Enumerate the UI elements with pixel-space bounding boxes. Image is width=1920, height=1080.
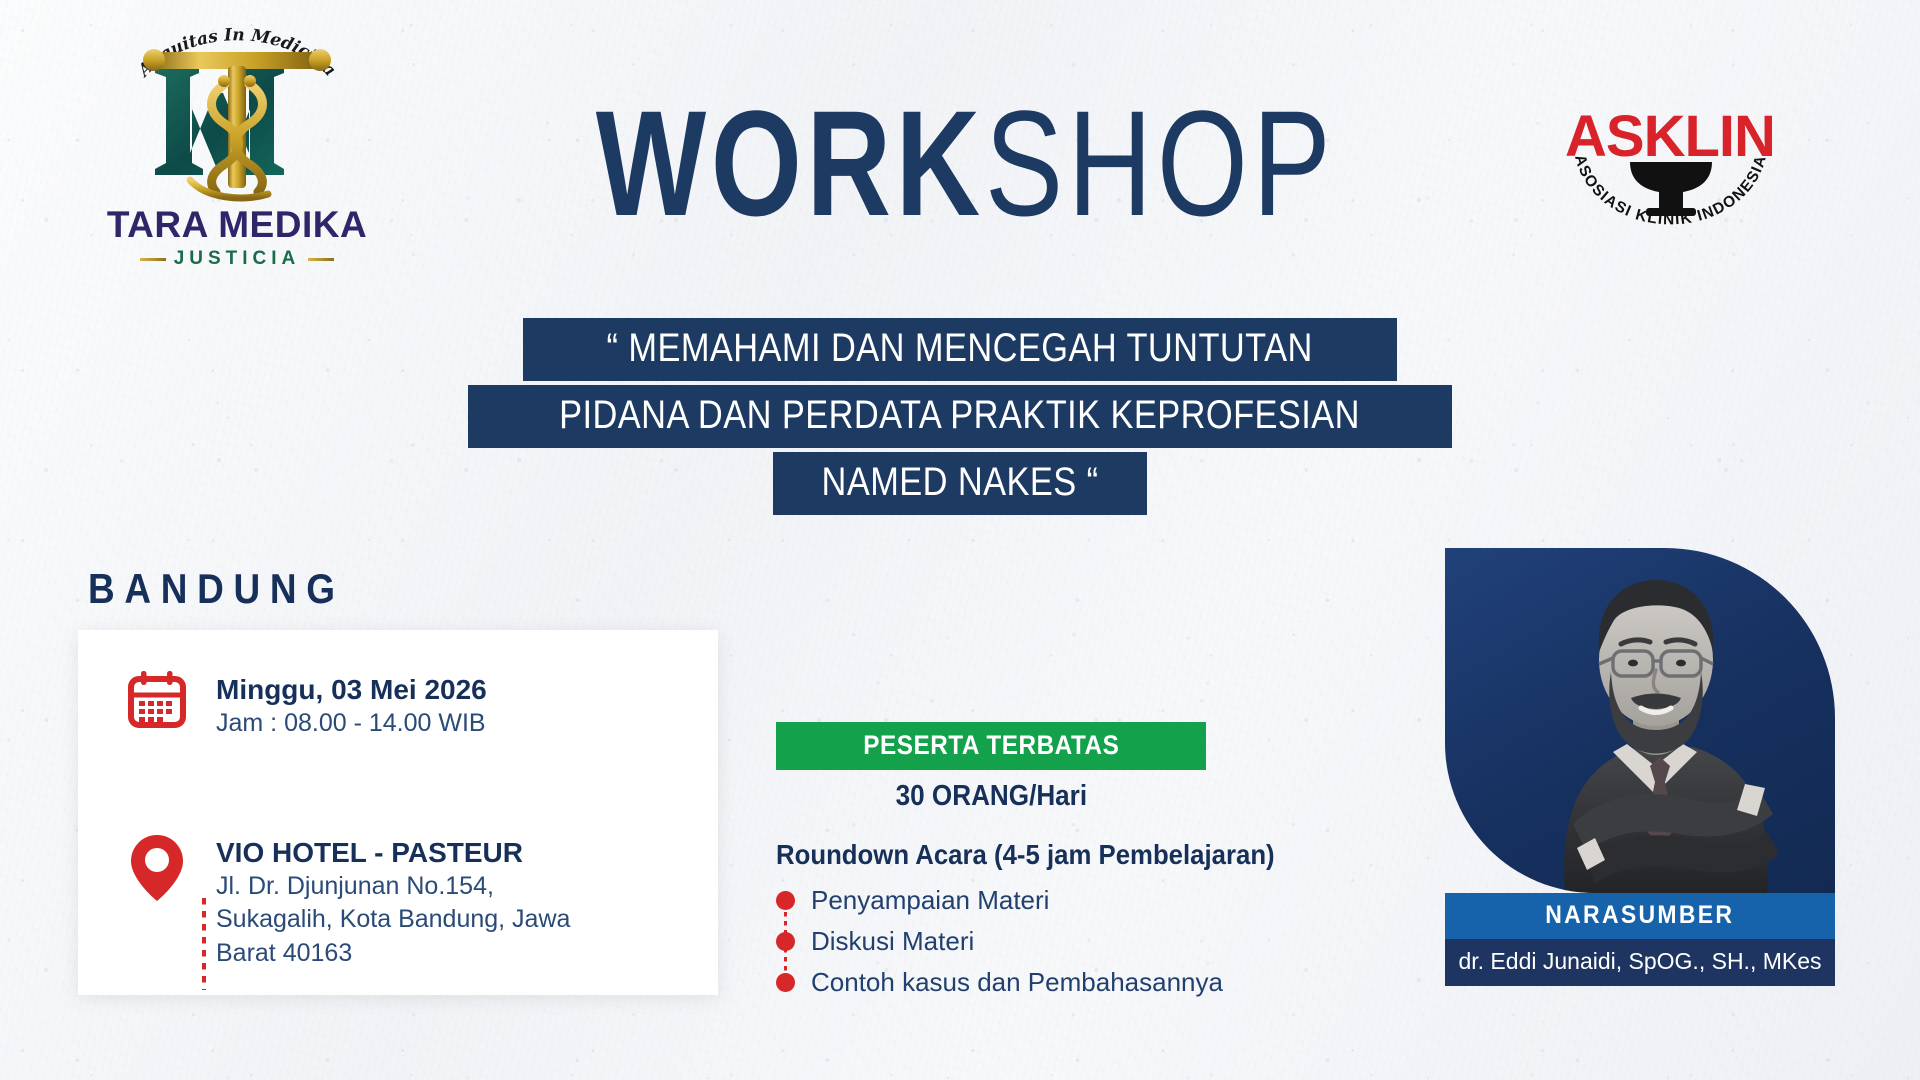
bullet-dot-icon	[776, 973, 795, 992]
location-pin-icon	[128, 831, 186, 905]
venue-address-line-2: Sukagalih, Kota Bandung, Jawa	[216, 903, 570, 937]
quota-text: 30 ORANG/Hari	[776, 780, 1206, 813]
speaker-role-label: NARASUMBER	[1445, 893, 1835, 939]
subtitle-banner-group: “ MEMAHAMI DAN MENCEGAH TUNTUTAN PIDANA …	[0, 318, 1920, 515]
event-time: Jam : 08.00 - 14.00 WIB	[216, 707, 487, 741]
list-item: Diskusi Materi	[776, 921, 1206, 962]
calendar-icon	[126, 668, 188, 730]
bullet-dot-icon	[776, 932, 795, 951]
rundown-item-label: Contoh kasus dan Pembahasannya	[811, 967, 1223, 998]
date-icon-col	[124, 668, 190, 741]
city-heading: BANDUNG	[88, 565, 380, 613]
rundown-title: Roundown Acara (4-5 jam Pembelajaran)	[776, 839, 1206, 871]
rundown-item-label: Penyampaian Materi	[811, 885, 1049, 916]
page-title: WORKSHOP	[0, 88, 1920, 238]
logo-dash-right	[308, 258, 334, 261]
venue-address-line-3: Barat 40163	[216, 937, 570, 971]
capacity-and-rundown: PESERTA TERBATAS 30 ORANG/Hari Roundown …	[776, 722, 1206, 1003]
dotted-connector	[202, 898, 206, 990]
subtitle-banner-line-3: NAMED NAKES “	[773, 452, 1147, 515]
limited-seats-badge: PESERTA TERBATAS	[776, 722, 1206, 770]
speaker-card: NARASUMBER dr. Eddi Junaidi, SpOG., SH.,…	[1445, 548, 1835, 992]
venue-address-line-1: Jl. Dr. Djunjunan No.154,	[216, 870, 570, 904]
subtitle-banner-line-2: PIDANA DAN PERDATA PRAKTIK KEPROFESIAN	[468, 385, 1451, 448]
venue-name: VIO HOTEL - PASTEUR	[216, 835, 570, 870]
date-text-col: Minggu, 03 Mei 2026 Jam : 08.00 - 14.00 …	[216, 668, 487, 741]
rundown-item-label: Diskusi Materi	[811, 926, 974, 957]
logo-brand-sub: JUSTICIA	[174, 248, 301, 270]
event-date: Minggu, 03 Mei 2026	[216, 672, 487, 707]
speaker-portrait	[1445, 548, 1835, 893]
title-bold-part: WORK	[596, 88, 985, 238]
date-row: Minggu, 03 Mei 2026 Jam : 08.00 - 14.00 …	[124, 668, 684, 741]
venue-row: VIO HOTEL - PASTEUR Jl. Dr. Djunjunan No…	[124, 831, 684, 971]
logo-subtitle-row: JUSTICIA	[92, 248, 382, 270]
rundown-list: Penyampaian Materi Diskusi Materi Contoh…	[776, 880, 1206, 1003]
venue-text-col: VIO HOTEL - PASTEUR Jl. Dr. Djunjunan No…	[216, 831, 570, 971]
list-item: Penyampaian Materi	[776, 880, 1206, 921]
speaker-name: dr. Eddi Junaidi, SpOG., SH., MKes	[1445, 939, 1835, 986]
venue-icon-col	[124, 831, 190, 971]
speaker-photo-frame	[1445, 548, 1835, 893]
title-light-part: SHOP	[985, 88, 1335, 238]
list-item: Contoh kasus dan Pembahasannya	[776, 962, 1206, 1003]
logo-dash-left	[140, 258, 166, 261]
bullet-dot-icon	[776, 891, 795, 910]
subtitle-banner-line-1: “ MEMAHAMI DAN MENCEGAH TUNTUTAN	[523, 318, 1396, 381]
event-info-card: Minggu, 03 Mei 2026 Jam : 08.00 - 14.00 …	[78, 630, 718, 995]
